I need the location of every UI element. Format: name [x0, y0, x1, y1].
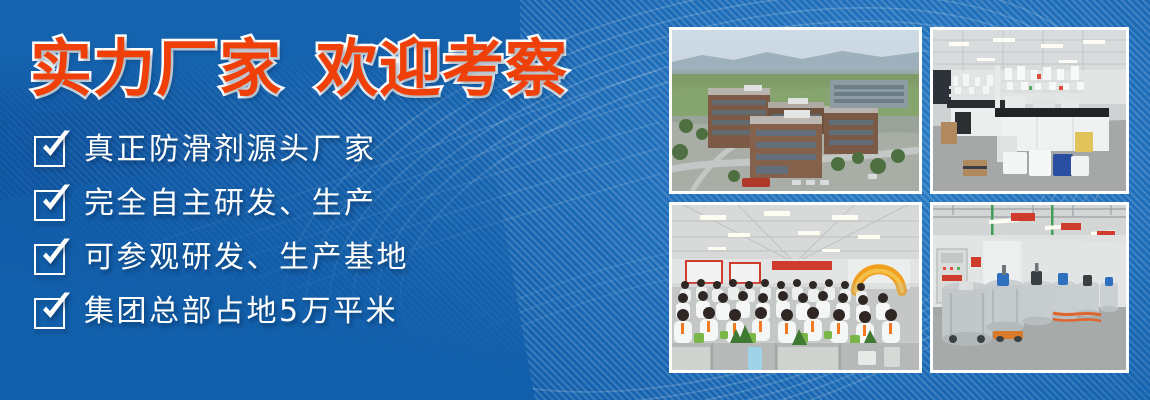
list-item-label: 完全自主研发、生产	[84, 189, 377, 219]
factory-campus-aerial-photo	[669, 27, 922, 194]
promotional-banner: 实力厂家 欢迎考察 真正防滑剂源头厂家	[0, 0, 1150, 400]
list-item: 可参观研发、生产基地	[30, 234, 660, 282]
list-item: 集团总部占地5万平米	[30, 288, 660, 336]
list-item-label: 集团总部占地5万平米	[84, 297, 398, 327]
list-item: 完全自主研发、生产	[30, 180, 660, 228]
text-column: 实力厂家 欢迎考察 真正防滑剂源头厂家	[0, 0, 660, 400]
feature-list: 真正防滑剂源头厂家 完全自主研发、生产 可参观研发、	[30, 126, 660, 336]
photo-grid	[669, 27, 1129, 373]
checkbox-checked-icon	[34, 133, 68, 167]
list-item-label: 真正防滑剂源头厂家	[84, 135, 377, 165]
checkbox-checked-icon	[34, 295, 68, 329]
headline: 实力厂家 欢迎考察	[30, 38, 660, 100]
checkbox-checked-icon	[34, 241, 68, 275]
headline-part1: 实力厂家	[30, 38, 282, 100]
office-staff-photo	[669, 202, 922, 373]
list-item-label: 可参观研发、生产基地	[84, 243, 409, 273]
production-workshop-photo	[930, 202, 1129, 373]
headline-part2: 欢迎考察	[316, 38, 568, 100]
list-item: 真正防滑剂源头厂家	[30, 126, 660, 174]
laboratory-photo	[930, 27, 1129, 194]
checkbox-checked-icon	[34, 187, 68, 221]
